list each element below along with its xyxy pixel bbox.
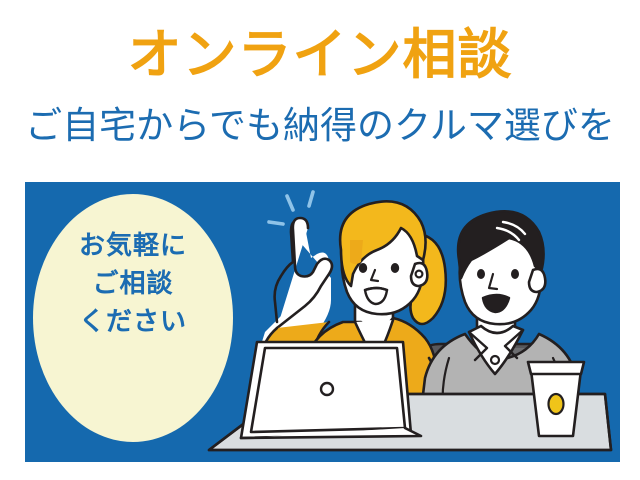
illustration-panel: お気軽に ご相談 ください オンライン相談のイラスト	[25, 182, 620, 462]
bubble-line-1: お気軽に	[33, 226, 233, 264]
cup-logo-icon	[549, 394, 564, 414]
laptop-logo-icon	[321, 383, 333, 395]
page-title: オンライン相談	[0, 26, 640, 84]
bubble-line-2: ご相談	[33, 264, 233, 302]
speech-bubble-text: お気軽に ご相談 ください	[33, 226, 233, 340]
bubble-line-3: ください	[33, 302, 233, 340]
online-consultation-banner: オンライン相談 ご自宅からでも納得のクルマ選びを	[0, 0, 640, 480]
page-subtitle: ご自宅からでも納得のクルマ選びを	[0, 104, 640, 148]
